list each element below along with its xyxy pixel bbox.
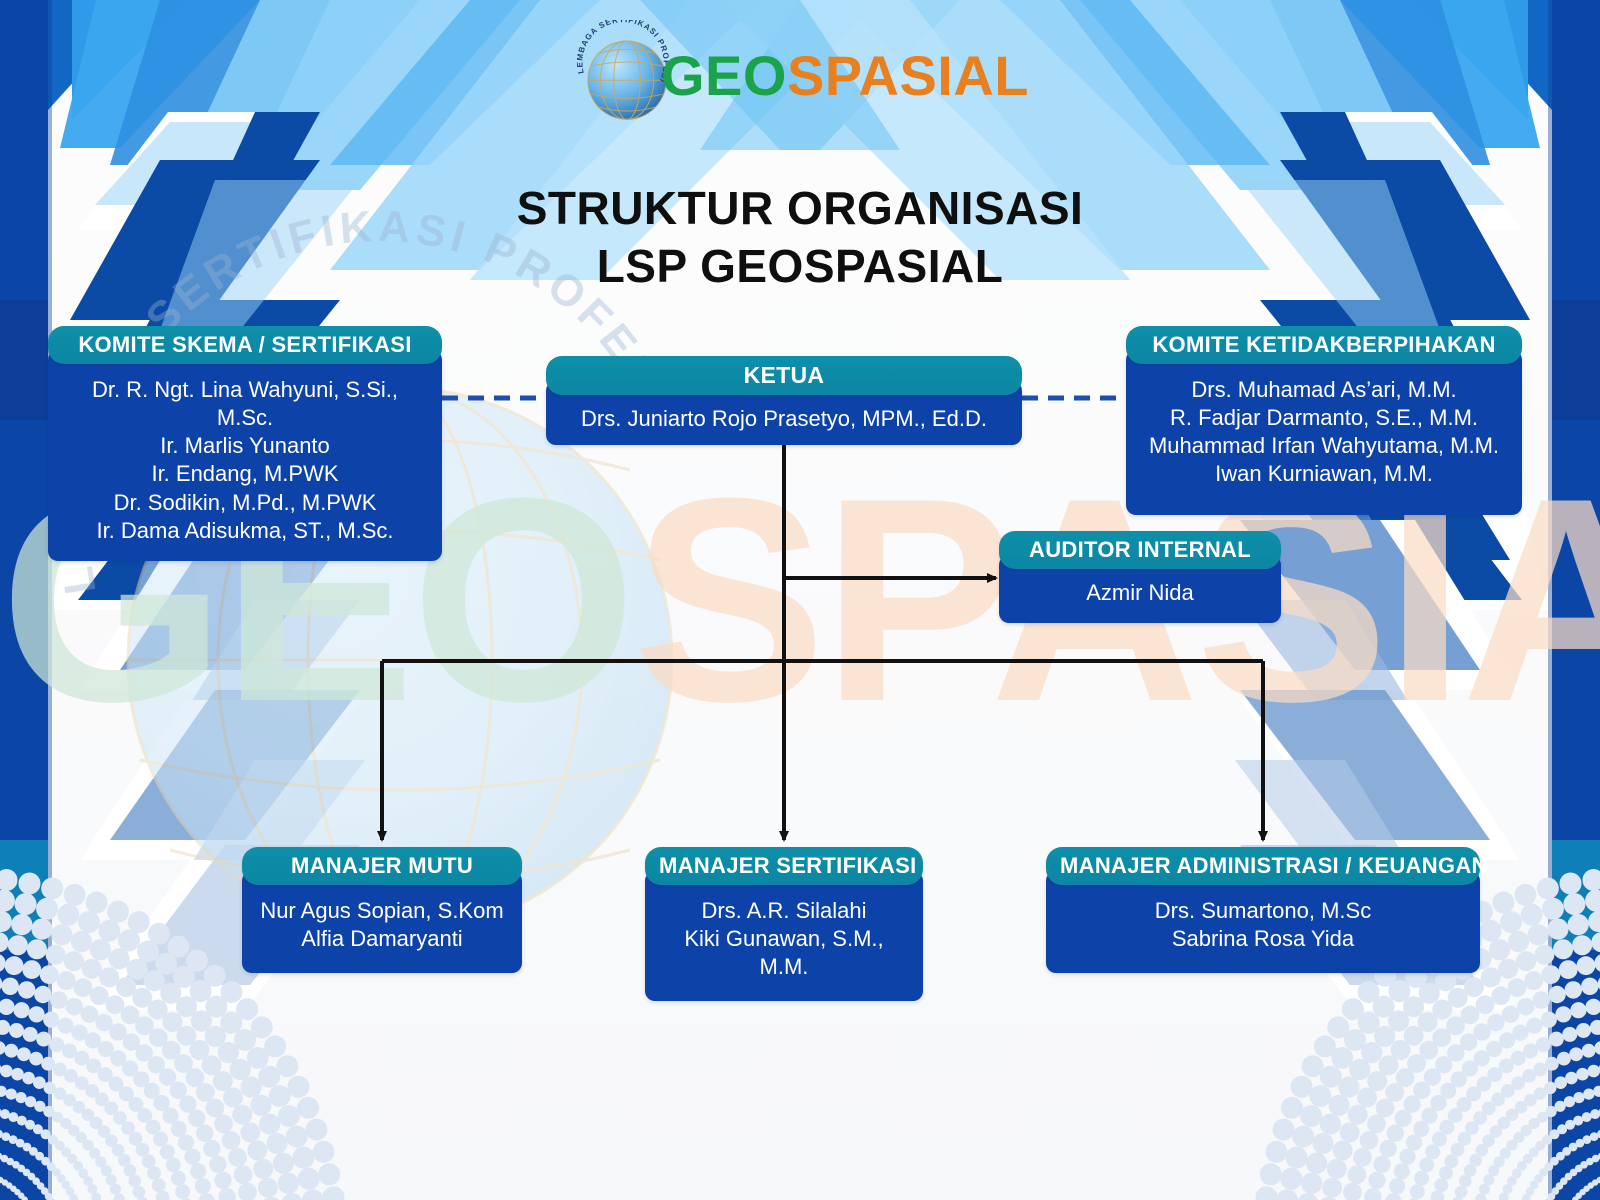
- node-manajer-administrasi-keuangan[interactable]: MANAJER ADMINISTRASI / KEUANGAN Drs. Sum…: [1046, 847, 1480, 973]
- member-name: Kiki Gunawan, S.M., M.M.: [661, 925, 907, 981]
- node-komite-skema-members: Dr. R. Ngt. Lina Wahyuni, S.Si., M.Sc.Ir…: [48, 350, 442, 561]
- lsp-geospasial-logo: LEMBAGA SERTIFIKASI PROFESI GEOSPASIAL: [0, 12, 1600, 140]
- member-name: Ir. Endang, M.PWK: [64, 460, 426, 488]
- node-manajer-mutu-members: Nur Agus Sopian, S.KomAlfia Damaryanti: [242, 871, 522, 973]
- member-name: Iwan Kurniawan, M.M.: [1142, 460, 1506, 488]
- title-line-1: STRUKTUR ORGANISASI: [0, 180, 1600, 238]
- member-name: Alfia Damaryanti: [258, 925, 506, 953]
- node-komite-skema[interactable]: KOMITE SKEMA / SERTIFIKASI Dr. R. Ngt. L…: [48, 326, 442, 561]
- node-manajer-mutu[interactable]: MANAJER MUTU Nur Agus Sopian, S.KomAlfia…: [242, 847, 522, 973]
- node-auditor-internal-header: AUDITOR INTERNAL: [999, 531, 1281, 569]
- member-name: Azmir Nida: [1015, 579, 1265, 607]
- member-name: Drs. Sumartono, M.Sc: [1062, 897, 1464, 925]
- member-name: R. Fadjar Darmanto, S.E., M.M.: [1142, 404, 1506, 432]
- node-manajer-administrasi-keuangan-members: Drs. Sumartono, M.ScSabrina Rosa Yida: [1046, 871, 1480, 973]
- node-ketua[interactable]: KETUA Drs. Juniarto Rojo Prasetyo, MPM.,…: [546, 356, 1022, 445]
- member-name: Dr. Sodikin, M.Pd., M.PWK: [64, 489, 426, 517]
- node-manajer-mutu-header: MANAJER MUTU: [242, 847, 522, 885]
- member-name: Drs. A.R. Silalahi: [661, 897, 907, 925]
- node-manajer-sertifikasi-members: Drs. A.R. SilalahiKiki Gunawan, S.M., M.…: [645, 871, 923, 1001]
- member-name: Ir. Marlis Yunanto: [64, 432, 426, 460]
- node-manajer-sertifikasi[interactable]: MANAJER SERTIFIKASI Drs. A.R. SilalahiKi…: [645, 847, 923, 1001]
- logo-word-geo: GEO: [661, 44, 787, 107]
- node-auditor-internal[interactable]: AUDITOR INTERNAL Azmir Nida: [999, 531, 1281, 623]
- logo-wordmark: GEOSPASIAL: [661, 48, 1029, 104]
- title-line-2: LSP GEOSPASIAL: [0, 238, 1600, 296]
- node-komite-ketidakberpihakan-members: Drs. Muhamad As’ari, M.M.R. Fadjar Darma…: [1126, 350, 1522, 515]
- node-manajer-sertifikasi-header: MANAJER SERTIFIKASI: [645, 847, 923, 885]
- node-komite-skema-header: KOMITE SKEMA / SERTIFIKASI: [48, 326, 442, 364]
- page-title: STRUKTUR ORGANISASI LSP GEOSPASIAL: [0, 180, 1600, 295]
- member-name: Drs. Juniarto Rojo Prasetyo, MPM., Ed.D.: [562, 405, 1006, 433]
- logo-word-spasial: SPASIAL: [787, 44, 1029, 107]
- member-name: Nur Agus Sopian, S.Kom: [258, 897, 506, 925]
- member-name: Drs. Muhamad As’ari, M.M.: [1142, 376, 1506, 404]
- node-komite-ketidakberpihakan[interactable]: KOMITE KETIDAKBERPIHAKAN Drs. Muhamad As…: [1126, 326, 1522, 515]
- slide-canvas: LEMBAGA SERTIFIKASI PROFESI GEOSPASIAL: [0, 0, 1600, 1200]
- member-name: Dr. R. Ngt. Lina Wahyuni, S.Si., M.Sc.: [64, 376, 426, 432]
- node-ketua-header: KETUA: [546, 356, 1022, 395]
- node-komite-ketidakberpihakan-header: KOMITE KETIDAKBERPIHAKAN: [1126, 326, 1522, 364]
- member-name: Sabrina Rosa Yida: [1062, 925, 1464, 953]
- member-name: Muhammad Irfan Wahyutama, M.M.: [1142, 432, 1506, 460]
- node-manajer-administrasi-keuangan-header: MANAJER ADMINISTRASI / KEUANGAN: [1046, 847, 1480, 885]
- member-name: Ir. Dama Adisukma, ST., M.Sc.: [64, 517, 426, 545]
